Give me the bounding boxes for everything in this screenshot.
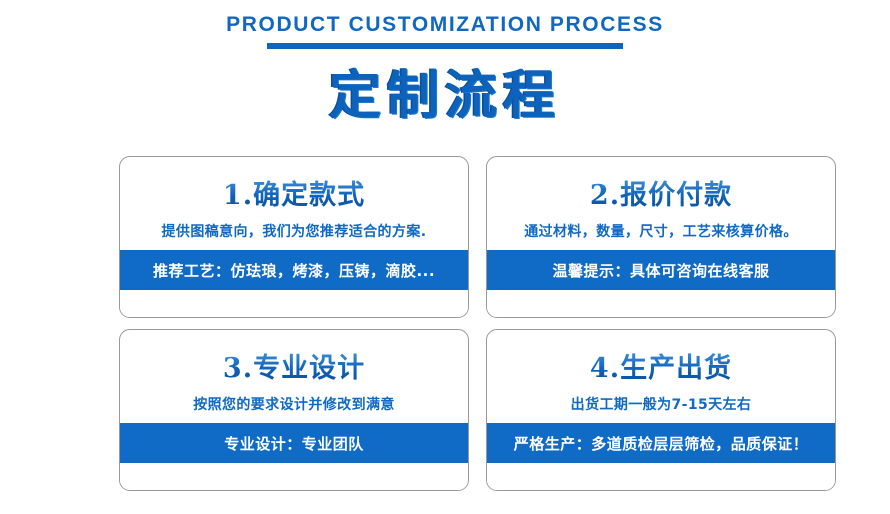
step-subtitle: 通过材料，数量，尺寸，工艺来核算价格。 <box>487 222 835 242</box>
step-subtitle: 出货工期一般为7-15天左右 <box>487 395 835 415</box>
step-subtitle: 按照您的要求设计并修改到满意 <box>120 395 468 415</box>
process-step-card-1: 1.确定款式 提供图稿意向，我们为您推荐适合的方案. 推荐工艺：仿珐琅，烤漆，压… <box>119 156 469 318</box>
step-card-footer-space <box>120 463 468 490</box>
step-highlight-bar: 专业设计：专业团队 <box>120 423 468 463</box>
step-heading: 3.专业设计 <box>120 352 468 386</box>
step-card-footer-space <box>120 290 468 317</box>
step-highlight-bar: 温馨提示：具体可咨询在线客服 <box>487 250 835 290</box>
step-heading: 4.生产出货 <box>487 352 835 386</box>
chinese-title: 定制流程 <box>0 66 890 126</box>
step-highlight-bar: 严格生产：多道质检层层筛检，品质保证！ <box>487 423 835 463</box>
english-title: PRODUCT CUSTOMIZATION PROCESS <box>0 12 890 38</box>
process-steps-grid: 1.确定款式 提供图稿意向，我们为您推荐适合的方案. 推荐工艺：仿珐琅，烤漆，压… <box>119 156 836 491</box>
banner-header: PRODUCT CUSTOMIZATION PROCESS <box>0 12 890 49</box>
process-step-card-3: 3.专业设计 按照您的要求设计并修改到满意 专业设计：专业团队 <box>119 329 469 491</box>
step-card-footer-space <box>487 290 835 317</box>
step-heading: 1.确定款式 <box>120 179 468 213</box>
step-subtitle: 提供图稿意向，我们为您推荐适合的方案. <box>120 222 468 242</box>
process-step-card-2: 2.报价付款 通过材料，数量，尺寸，工艺来核算价格。 温馨提示：具体可咨询在线客… <box>486 156 836 318</box>
step-card-footer-space <box>487 463 835 490</box>
product-customization-process-banner: PRODUCT CUSTOMIZATION PROCESS 定制流程 1.确定款… <box>0 0 890 514</box>
step-heading: 2.报价付款 <box>487 179 835 213</box>
title-underline-rule <box>267 43 623 49</box>
step-highlight-bar: 推荐工艺：仿珐琅，烤漆，压铸，滴胶... <box>120 250 468 290</box>
process-step-card-4: 4.生产出货 出货工期一般为7-15天左右 严格生产：多道质检层层筛检，品质保证… <box>486 329 836 491</box>
